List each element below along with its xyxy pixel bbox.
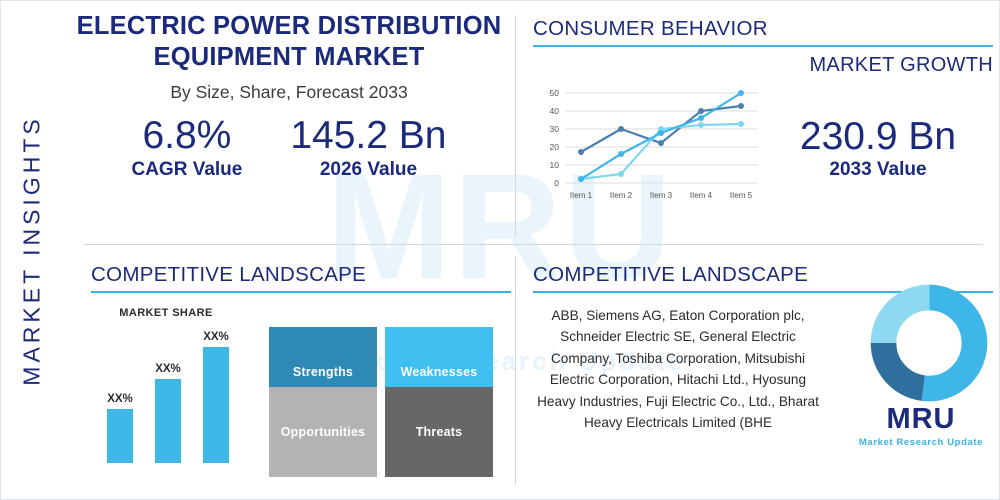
bar-value-2: XX% — [155, 363, 181, 375]
swot-threats-label: Threats — [416, 425, 463, 439]
svg-text:10: 10 — [550, 160, 560, 170]
bar-column-2: XX% — [155, 379, 181, 463]
donut-chart-svg — [869, 283, 989, 403]
line-chart: 50 40 30 20 10 0 Item 1 Item 2 Item 3 It… — [533, 81, 763, 211]
consumer-behavior-underline — [533, 45, 993, 47]
bar-chart-title: MARKET SHARE — [69, 307, 263, 319]
svg-text:Item 4: Item 4 — [690, 191, 713, 200]
bar-chart: MARKET SHARE XX% XX% — [63, 307, 263, 463]
company-list: ABB, Siemens AG, Eaton Corporation plc, … — [533, 305, 823, 434]
consumer-behavior-body: 50 40 30 20 10 0 Item 1 Item 2 Item 3 It… — [533, 81, 993, 211]
svg-text:0: 0 — [554, 178, 559, 188]
bar-fill-3: XX% — [203, 347, 229, 463]
page-title: ELECTRIC POWER DISTRIBUTION EQUIPMENT MA… — [63, 11, 515, 73]
vertical-divider-bottom — [515, 257, 516, 485]
bar-value-3: XX% — [203, 331, 229, 343]
line-chart-svg: 50 40 30 20 10 0 Item 1 Item 2 Item 3 It… — [533, 81, 763, 206]
side-banner: MARKET INSIGHTS — [1, 1, 63, 499]
svg-text:40: 40 — [550, 106, 560, 116]
market-growth-label: 2033 Value — [829, 159, 926, 181]
bar-chart-bars: XX% XX% XX% — [63, 333, 263, 463]
swot-strengths-label: Strengths — [293, 365, 353, 379]
logo-text: MRU — [886, 405, 955, 434]
bar-value-1: XX% — [107, 393, 133, 405]
key-stats: 6.8% CAGR Value 145.2 Bn 2026 Value — [63, 116, 515, 181]
horizontal-divider — [83, 244, 983, 245]
swot-grid: Strengths Weaknesses Opportunities Threa… — [269, 327, 493, 463]
content-area: ELECTRIC POWER DISTRIBUTION EQUIPMENT MA… — [63, 1, 999, 499]
market-growth-heading: MARKET GROWTH — [533, 54, 993, 77]
infographic-page: MRU Market Research Update MARKET INSIGH… — [0, 0, 1000, 500]
svg-text:Item 2: Item 2 — [610, 191, 633, 200]
market-growth-value: 230.9 Bn — [800, 117, 956, 158]
stat-cagr: 6.8% CAGR Value — [131, 116, 242, 181]
side-banner-label: MARKET INSIGHTS — [19, 115, 46, 385]
logo-tagline: Market Research Update — [859, 437, 983, 448]
logo: MRU Market Research Update — [859, 405, 983, 448]
swot-weaknesses-label: Weaknesses — [401, 365, 478, 379]
svg-text:Item 5: Item 5 — [730, 191, 753, 200]
title-block: ELECTRIC POWER DISTRIBUTION EQUIPMENT MA… — [63, 11, 515, 181]
bar-column-1: XX% — [107, 409, 133, 463]
competitive-landscape-right: COMPETITIVE LANDSCAPE ABB, Siemens AG, E… — [533, 263, 993, 434]
stat-2026-value: 145.2 Bn — [290, 116, 446, 157]
stat-cagr-value: 6.8% — [131, 116, 242, 157]
bar-fill-1: XX% — [107, 409, 133, 463]
market-growth-value-block: 230.9 Bn 2033 Value — [763, 81, 993, 211]
vertical-divider-top — [515, 15, 516, 237]
competitive-landscape-left-underline — [91, 291, 511, 293]
svg-text:Item 1: Item 1 — [570, 191, 593, 200]
svg-text:50: 50 — [550, 88, 560, 98]
competitive-landscape-left-body: MARKET SHARE XX% XX% — [63, 307, 515, 463]
consumer-behavior-heading: CONSUMER BEHAVIOR — [533, 17, 993, 41]
swot-opportunities-label: Opportunities — [281, 425, 366, 439]
page-subtitle: By Size, Share, Forecast 2033 — [63, 82, 515, 103]
competitive-landscape-left-heading: COMPETITIVE LANDSCAPE — [63, 263, 515, 287]
svg-text:Item 3: Item 3 — [650, 191, 673, 200]
swot-opportunities[interactable]: Opportunities — [269, 387, 377, 477]
svg-text:30: 30 — [550, 124, 560, 134]
stat-2026-label: 2026 Value — [290, 159, 446, 181]
stat-cagr-label: CAGR Value — [131, 159, 242, 181]
stat-2026: 145.2 Bn 2026 Value — [290, 116, 446, 181]
donut-chart — [869, 283, 989, 403]
consumer-behavior-block: CONSUMER BEHAVIOR MARKET GROWTH — [533, 17, 993, 211]
swot-threats[interactable]: Threats — [385, 387, 493, 477]
svg-text:20: 20 — [550, 142, 560, 152]
competitive-landscape-left: COMPETITIVE LANDSCAPE MARKET SHARE XX% — [63, 263, 515, 463]
bar-column-3: XX% — [203, 347, 229, 463]
bar-fill-2: XX% — [155, 379, 181, 463]
